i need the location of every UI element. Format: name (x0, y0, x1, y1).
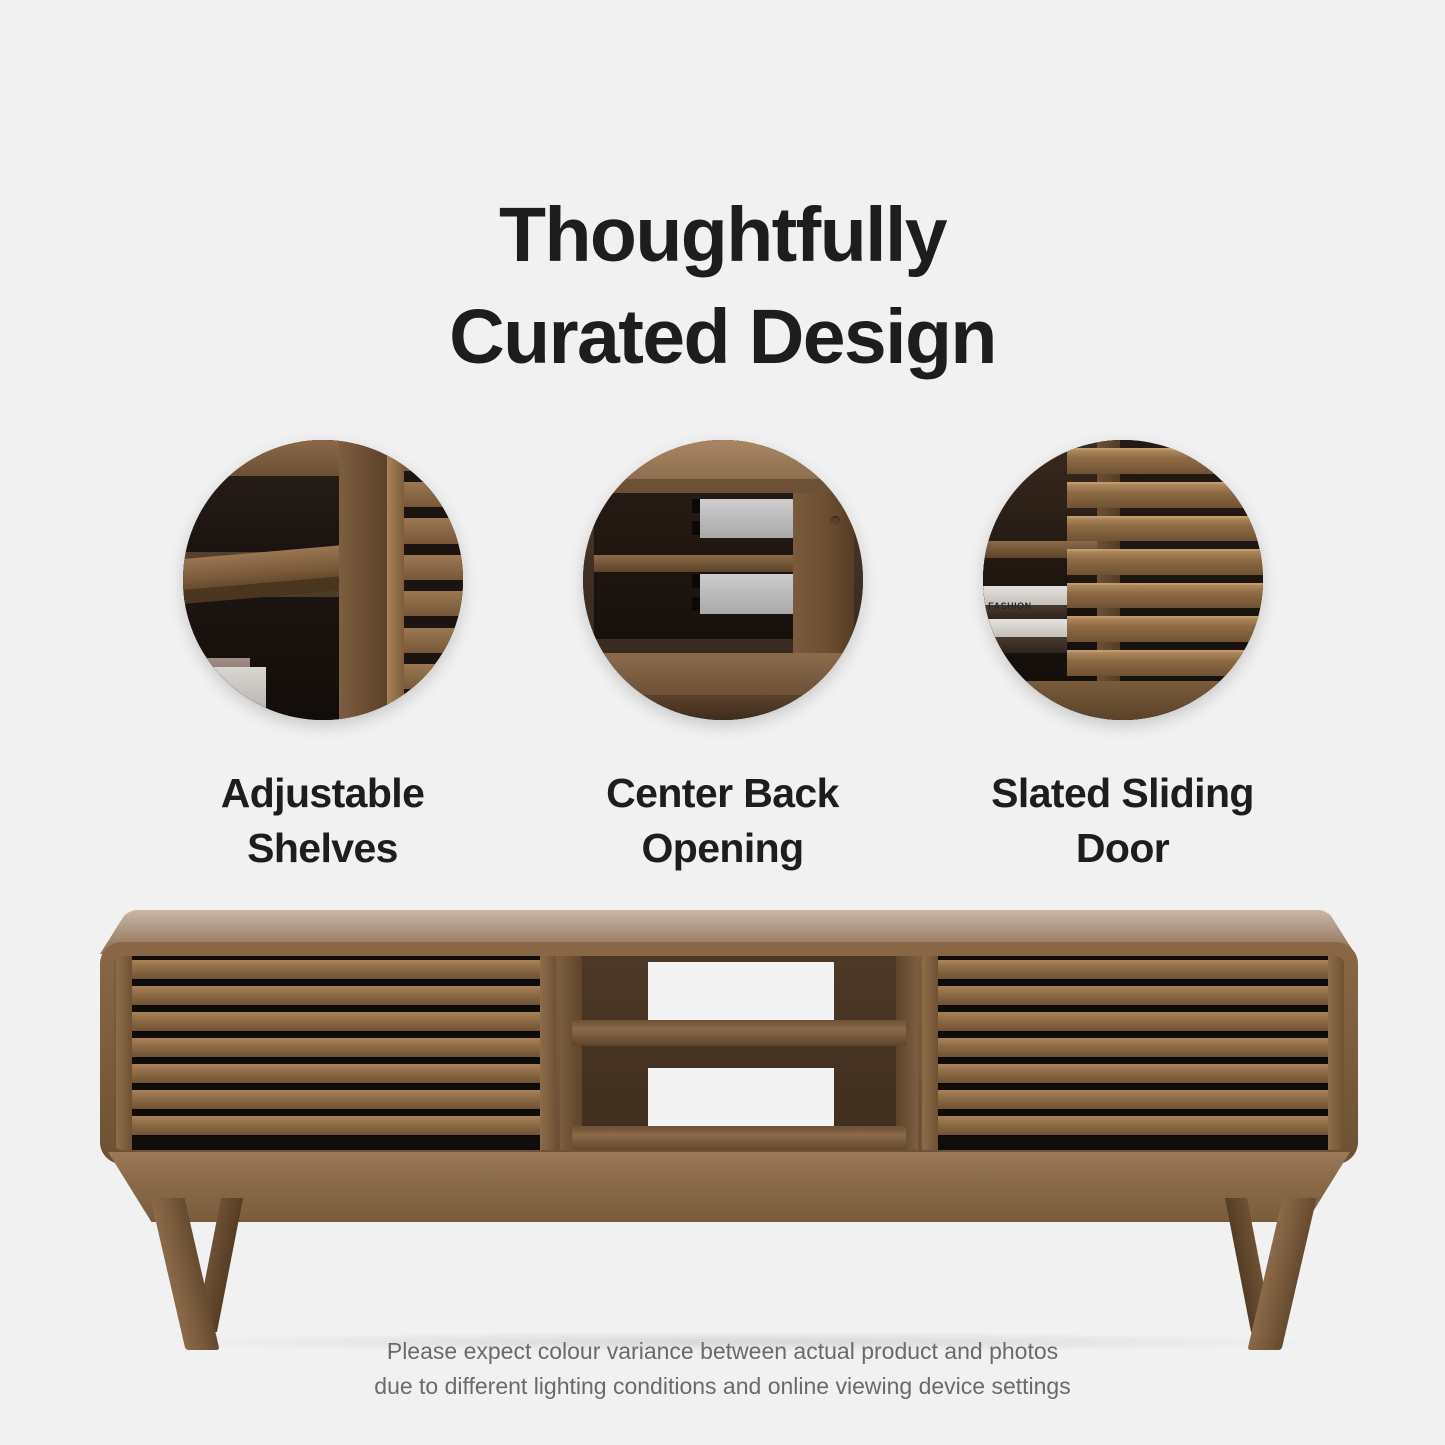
product-image-tv-stand (60, 880, 1400, 1300)
book-label-on: ON (985, 644, 1000, 654)
feature-label-slated-sliding-door: Slated Sliding Door (991, 766, 1254, 875)
feature-item-slated-sliding-door: FASHION ON Slated Sliding Door (983, 440, 1263, 875)
feature-image-adjustable-shelves (183, 440, 463, 720)
feature-item-center-back-opening: Center Back Opening (583, 440, 863, 875)
cabinet-plinth (108, 1152, 1350, 1222)
feature-image-slated-sliding-door: FASHION ON (983, 440, 1263, 720)
headline-line-2: Curated Design (0, 286, 1445, 388)
colour-variance-disclaimer: Please expect colour variance between ac… (0, 1334, 1445, 1403)
feature-list: Adjustable Shelves (0, 440, 1445, 875)
feature-label-center-back-opening: Center Back Opening (606, 766, 839, 875)
disclaimer-line-1: Please expect colour variance between ac… (0, 1334, 1445, 1369)
book-label-fashion: FASHION (988, 601, 1032, 611)
feature-image-center-back-opening (583, 440, 863, 720)
headline-line-1: Thoughtfully (0, 184, 1445, 286)
adjustable-shelves-illustration (183, 440, 463, 720)
feature-label-line-2: Shelves (221, 821, 425, 876)
page-headline: Thoughtfully Curated Design (0, 184, 1445, 389)
feature-item-adjustable-shelves: Adjustable Shelves (183, 440, 463, 875)
cabinet-front-rim (100, 942, 1358, 1164)
center-back-opening-illustration (583, 440, 863, 720)
feature-label-line-1: Adjustable (221, 766, 425, 821)
feature-label-line-1: Center Back (606, 766, 839, 821)
feature-label-line-1: Slated Sliding (991, 766, 1254, 821)
disclaimer-line-2: due to different lighting conditions and… (0, 1369, 1445, 1404)
slated-sliding-door-illustration: FASHION ON (983, 440, 1263, 720)
feature-label-adjustable-shelves: Adjustable Shelves (221, 766, 425, 875)
feature-label-line-2: Door (991, 821, 1254, 876)
feature-label-line-2: Opening (606, 821, 839, 876)
